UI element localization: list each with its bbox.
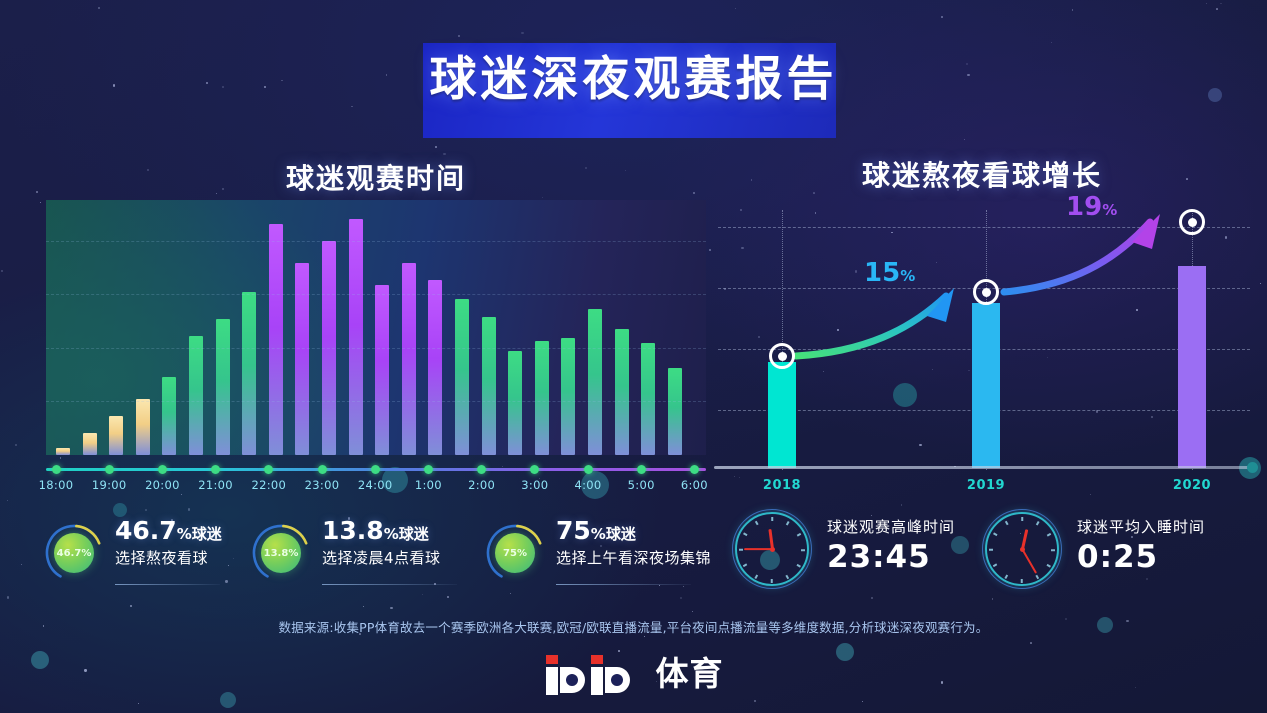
- viewing-time-bar-chart: [46, 200, 706, 455]
- bar: [402, 263, 416, 455]
- axis-tick-label: 6:00: [681, 478, 708, 492]
- gridline: [46, 294, 706, 295]
- clock-time-value: 23:45: [827, 539, 955, 575]
- year-label: 2020: [1173, 478, 1211, 493]
- growth-node: [973, 279, 999, 305]
- growth-arrows: [714, 200, 1254, 466]
- growth-percent-label: 19%: [1066, 192, 1117, 222]
- clock-label: 球迷观赛高峰时间: [827, 516, 955, 537]
- clock-face-icon: [985, 512, 1059, 586]
- axis-tick-label: 2:00: [468, 478, 495, 492]
- bar: [535, 341, 549, 455]
- growth-node: [1179, 209, 1205, 235]
- bar: [375, 285, 389, 455]
- bar: [561, 338, 575, 455]
- stat-subtext: 选择上午看深夜场集锦: [556, 547, 711, 568]
- gauge-ring: 13.8%: [250, 522, 312, 584]
- right-chart-title: 球迷熬夜看球增长: [712, 154, 1252, 194]
- clock-pivot: [1020, 547, 1025, 552]
- axis-tick-dot: [105, 465, 114, 474]
- axis-tick-dot: [158, 465, 167, 474]
- gauge-value: 13.8%: [261, 533, 301, 573]
- axis-tick-label: 5:00: [628, 478, 655, 492]
- bar: [455, 299, 469, 455]
- year-label: 2018: [763, 478, 801, 493]
- stat-underline: [322, 584, 457, 585]
- axis-tick-dot: [211, 465, 220, 474]
- pp-logo-mark: [544, 652, 652, 696]
- stat-subtext: 选择熬夜看球: [115, 547, 222, 568]
- axis-tick-dot: [318, 465, 327, 474]
- clock-tick: [1021, 579, 1023, 583]
- clock-tick: [1051, 549, 1055, 551]
- gridline: [46, 348, 706, 349]
- clock-text: 球迷观赛高峰时间23:45: [827, 516, 955, 575]
- clock-tick: [989, 549, 993, 551]
- axis-tick-label: 23:00: [305, 478, 340, 492]
- bar: [641, 343, 655, 455]
- logo-text: 体育: [656, 652, 724, 696]
- clock-minute-hand: [744, 548, 772, 550]
- axis-tick-label: 20:00: [145, 478, 180, 492]
- baseline-endcap-dot: [1247, 462, 1258, 473]
- clock-pivot: [770, 547, 775, 552]
- axis-tick-label: 1:00: [415, 478, 442, 492]
- bar: [242, 292, 256, 455]
- gauge-ring: 75%: [484, 522, 546, 584]
- bar: [269, 224, 283, 455]
- page-title: 球迷深夜观赛报告: [0, 40, 1267, 109]
- axis-tick-dot: [477, 465, 486, 474]
- bar-series: [46, 200, 706, 455]
- axis-tick-label: 18:00: [39, 478, 74, 492]
- stat-item: 75%75%球迷选择上午看深夜场集锦: [484, 518, 699, 592]
- pp-logo-svg: [544, 652, 652, 696]
- bar: [508, 351, 522, 455]
- stat-text: 46.7%球迷选择熬夜看球: [115, 518, 222, 568]
- axis-tick-label: 3:00: [521, 478, 548, 492]
- growth-node: [769, 343, 795, 369]
- bar: [668, 368, 682, 455]
- stat-headline: 13.8%球迷: [322, 518, 441, 544]
- gauge-value: 46.7%: [54, 533, 94, 573]
- bar: [216, 319, 230, 455]
- bar: [349, 219, 363, 455]
- axis-tick-dot: [584, 465, 593, 474]
- stat-headline: 75%球迷: [556, 518, 711, 544]
- clock-face-icon: [735, 512, 809, 586]
- clock-tick: [771, 517, 773, 521]
- footer-source-note: 数据来源:收集PP体育故去一个赛季欧洲各大联赛,欧冠/欧联直播流量,平台夜间点播…: [0, 617, 1267, 636]
- gauge-ring: 46.7%: [43, 522, 105, 584]
- bar: [295, 263, 309, 455]
- axis-tick-dot: [530, 465, 539, 474]
- stat-text: 13.8%球迷选择凌晨4点看球: [322, 518, 441, 568]
- stat-underline: [556, 584, 691, 585]
- stat-underline: [115, 584, 220, 585]
- bar: [588, 309, 602, 455]
- brand-logo: 体育: [0, 652, 1267, 696]
- infographic-canvas: 球迷深夜观赛报告 球迷观赛时间 球迷熬夜看球增长 18:0019:0020:00…: [0, 0, 1267, 713]
- gauge-value: 75%: [495, 533, 535, 573]
- axis-tick-label: 21:00: [198, 478, 233, 492]
- growth-bar-chart: 15%19%: [714, 200, 1254, 468]
- clock-tick: [801, 549, 805, 551]
- axis-tick-label: 4:00: [574, 478, 601, 492]
- clock-tick: [1021, 517, 1023, 521]
- axis-tick-dot: [264, 465, 273, 474]
- axis-tick-label: 19:00: [92, 478, 127, 492]
- stat-subtext: 选择凌晨4点看球: [322, 547, 441, 568]
- bar: [136, 399, 150, 455]
- growth-percent-label: 15%: [864, 258, 915, 288]
- bar: [482, 317, 496, 456]
- stat-item: 46.7%46.7%球迷选择熬夜看球: [43, 518, 228, 592]
- bar: [56, 448, 70, 455]
- left-chart-title: 球迷观赛时间: [46, 157, 706, 197]
- year-label: 2019: [967, 478, 1005, 493]
- axis-tick-dot: [424, 465, 433, 474]
- bar: [162, 377, 176, 455]
- axis-tick-label: 24:00: [358, 478, 393, 492]
- bar: [83, 433, 97, 455]
- clock-tick: [739, 549, 743, 551]
- clock-label: 球迷平均入睡时间: [1077, 516, 1205, 537]
- stat-headline: 46.7%球迷: [115, 518, 222, 544]
- clock-tick: [771, 579, 773, 583]
- stat-item: 13.8%13.8%球迷选择凌晨4点看球: [250, 518, 465, 592]
- bar: [189, 336, 203, 455]
- axis-tick-dot: [371, 465, 380, 474]
- bar: [428, 280, 442, 455]
- stat-text: 75%球迷选择上午看深夜场集锦: [556, 518, 711, 568]
- gridline: [46, 401, 706, 402]
- clock-time-value: 0:25: [1077, 539, 1205, 575]
- gridline: [46, 241, 706, 242]
- axis-tick-label: 22:00: [251, 478, 286, 492]
- right-chart-baseline: [714, 466, 1254, 469]
- axis-tick-dot: [690, 465, 699, 474]
- clock-text: 球迷平均入睡时间0:25: [1077, 516, 1205, 575]
- axis-tick-dot: [637, 465, 646, 474]
- axis-tick-dot: [52, 465, 61, 474]
- bar: [109, 416, 123, 455]
